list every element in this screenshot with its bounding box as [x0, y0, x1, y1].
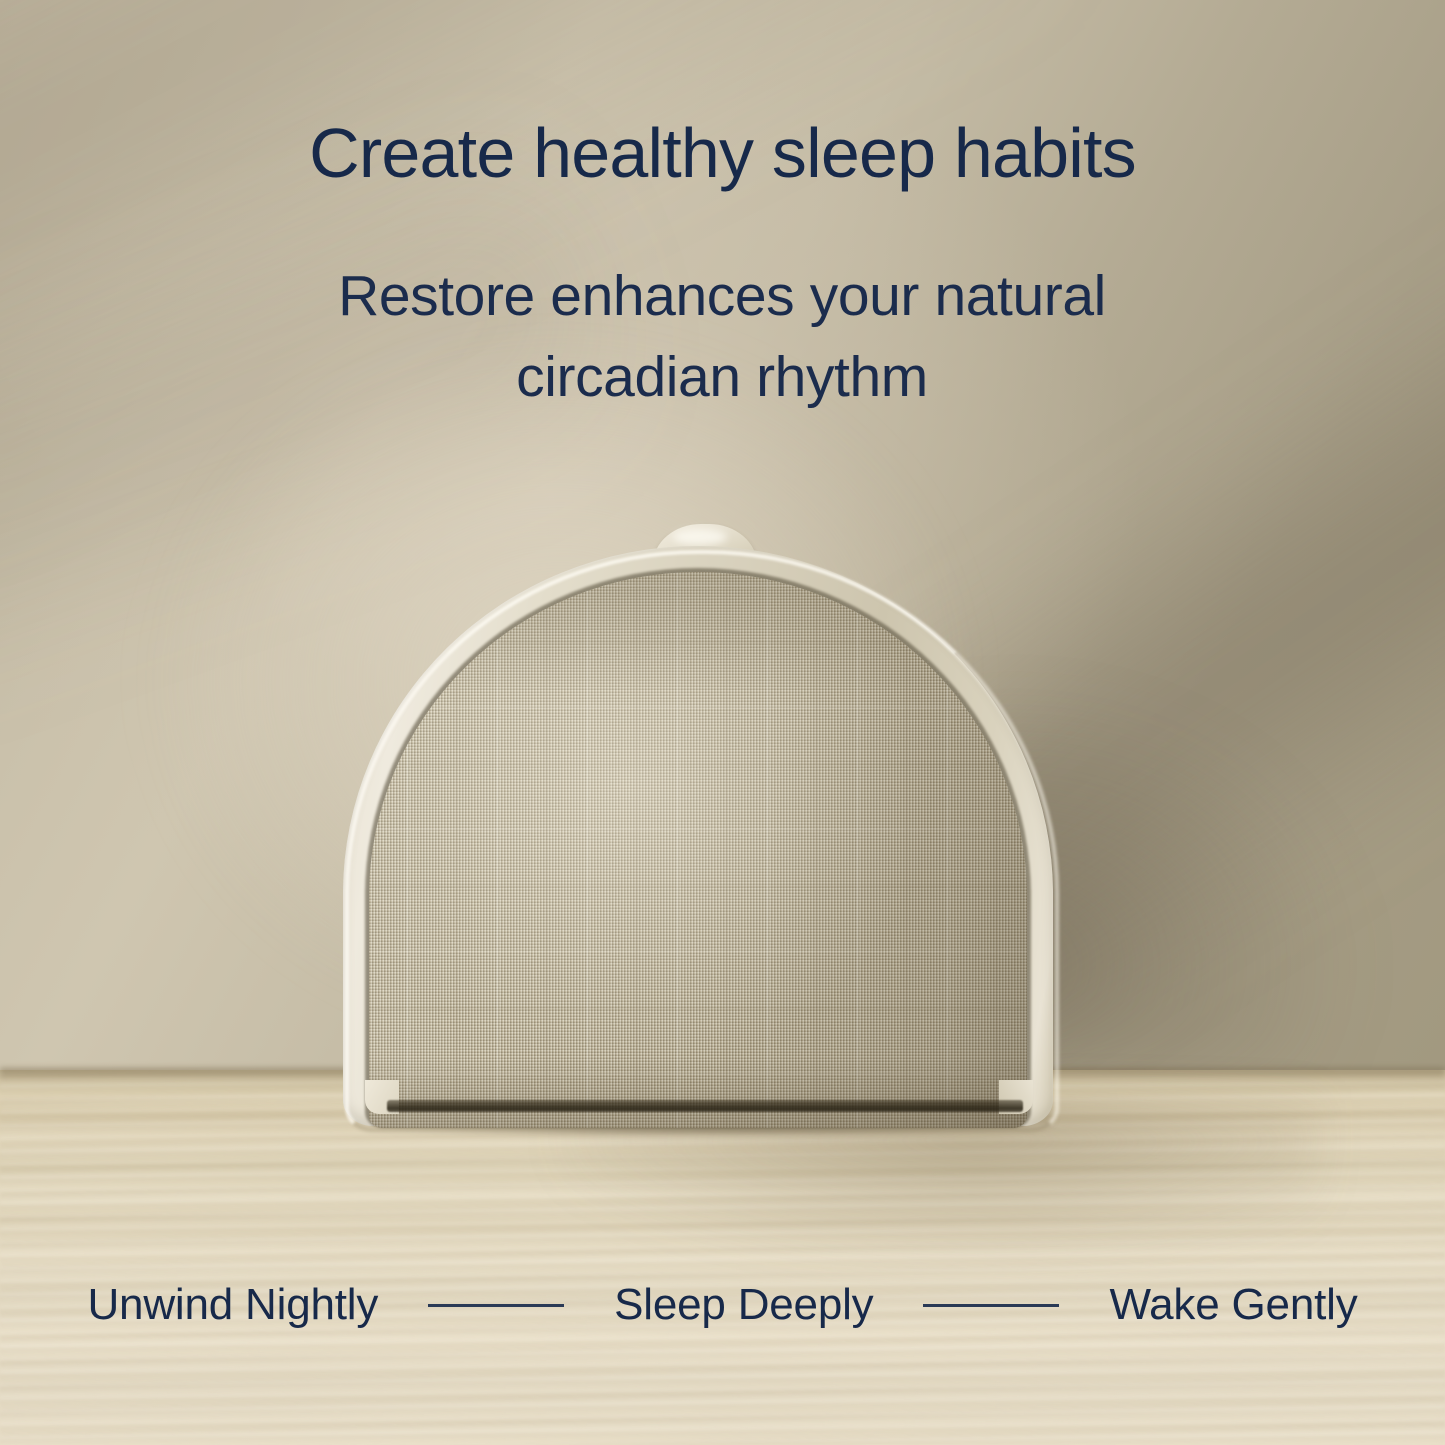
page-headline: Create healthy sleep habits: [0, 118, 1445, 188]
device-base-shadow: [387, 1100, 1023, 1112]
restore-sleep-device: [343, 524, 1053, 1130]
page-subheadline: Restore enhances your natural circadian …: [222, 256, 1222, 418]
subheadline-line-2: circadian rhythm: [516, 345, 928, 409]
top-dome-button-highlight: [673, 529, 727, 545]
step-wake-gently: Wake Gently: [1109, 1283, 1357, 1327]
step-connector-rule-1: [428, 1304, 564, 1307]
step-connector-rule-2: [923, 1304, 1059, 1307]
sleep-cycle-steps: Unwind Nightly Sleep Deeply Wake Gently: [0, 1283, 1445, 1327]
step-sleep-deeply: Sleep Deeply: [614, 1283, 873, 1327]
product-marketing-image: Create healthy sleep habits Restore enha…: [0, 0, 1445, 1445]
subheadline-line-1: Restore enhances your natural: [338, 264, 1106, 328]
step-unwind-nightly: Unwind Nightly: [87, 1283, 378, 1327]
